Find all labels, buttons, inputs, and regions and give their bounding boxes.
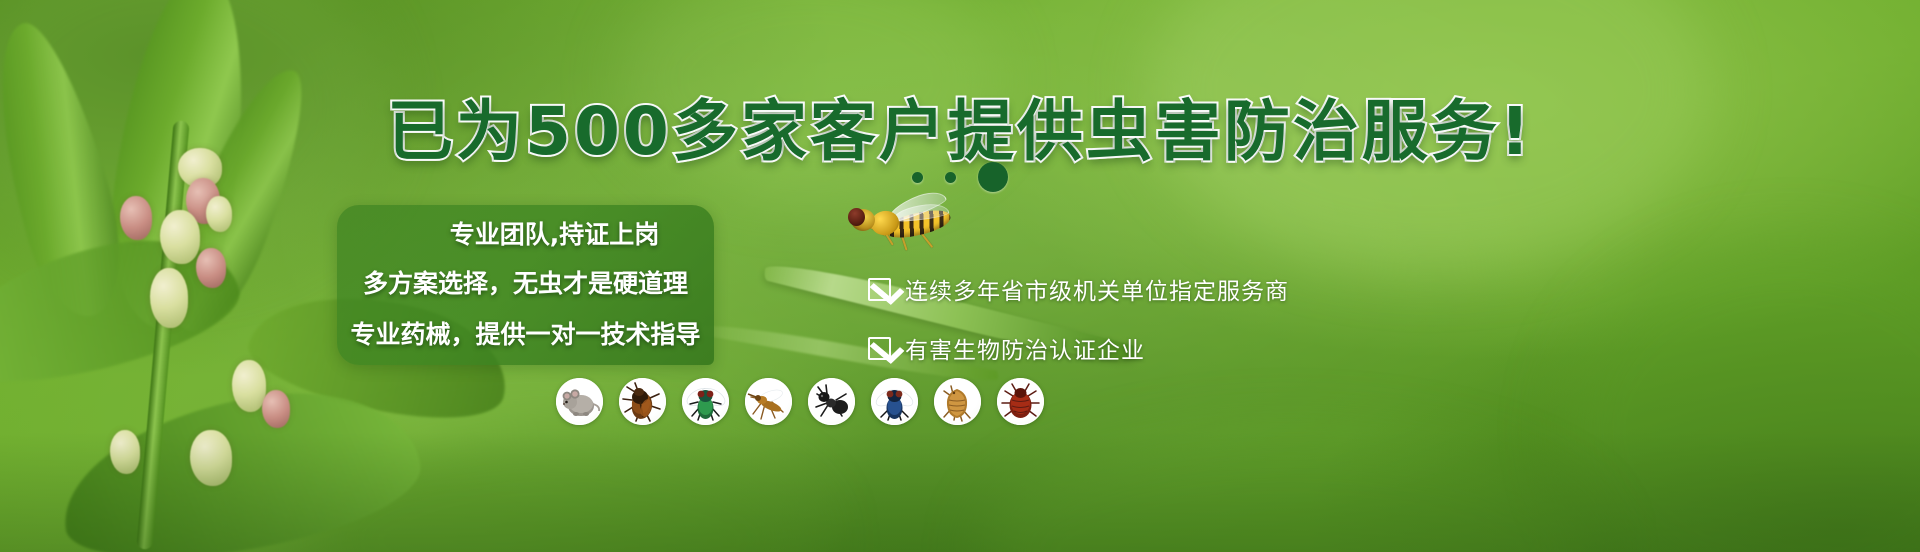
flower-bud (206, 196, 232, 232)
flower-bud (232, 360, 266, 412)
flower-bud (160, 210, 200, 264)
flower-bud (196, 248, 226, 288)
checklist-item-label: 连续多年省市级机关单位指定服务商 (905, 272, 1289, 306)
flower-bud (110, 430, 140, 474)
checkbox-checked-icon (868, 278, 891, 301)
mouse-icon[interactable] (556, 378, 603, 425)
decorative-dots (0, 162, 1920, 192)
flea-icon[interactable] (934, 378, 981, 425)
credentials-checklist: 连续多年省市级机关单位指定服务商 有害生物防治认证企业 (868, 272, 1289, 365)
bedbug-icon[interactable] (997, 378, 1044, 425)
selling-points-panel: 专业团队,持证上岗 多方案选择，无虫才是硬道理 专业药械，提供一对一技术指导 (337, 205, 714, 365)
insect-eye (848, 208, 865, 226)
pest-control-hero-banner: 已为500多家客户提供虫害防治服务! 专业团队,持证上岗 多方案选择，无虫才是硬… (0, 0, 1920, 552)
flower-bud (150, 268, 188, 328)
checklist-item: 有害生物防治认证企业 (868, 331, 1289, 365)
pest-icon-row (556, 378, 1044, 425)
dot-medium-icon (945, 172, 956, 183)
panel-line-1: 专业团队,持证上岗 (337, 212, 714, 258)
checklist-item: 连续多年省市级机关单位指定服务商 (868, 272, 1289, 306)
flower-bud (190, 430, 232, 486)
ant-icon[interactable] (808, 378, 855, 425)
dot-small-icon (912, 172, 923, 183)
cockroach-icon[interactable] (619, 378, 666, 425)
panel-line-2: 多方案选择，无虫才是硬道理 (337, 258, 714, 310)
flower-bud (120, 196, 152, 240)
flower-bud (262, 390, 290, 428)
banner-headline: 已为500多家客户提供虫害防治服务! (0, 78, 1920, 174)
hoverfly-photo (845, 195, 965, 255)
green-fly-icon[interactable] (682, 378, 729, 425)
blue-fly-icon[interactable] (871, 378, 918, 425)
checkbox-checked-icon (868, 337, 891, 360)
panel-line-3: 专业药械，提供一对一技术指导 (337, 310, 714, 360)
dot-large-icon (978, 162, 1008, 192)
checklist-item-label: 有害生物防治认证企业 (905, 331, 1145, 365)
mosquito-icon[interactable] (745, 378, 792, 425)
